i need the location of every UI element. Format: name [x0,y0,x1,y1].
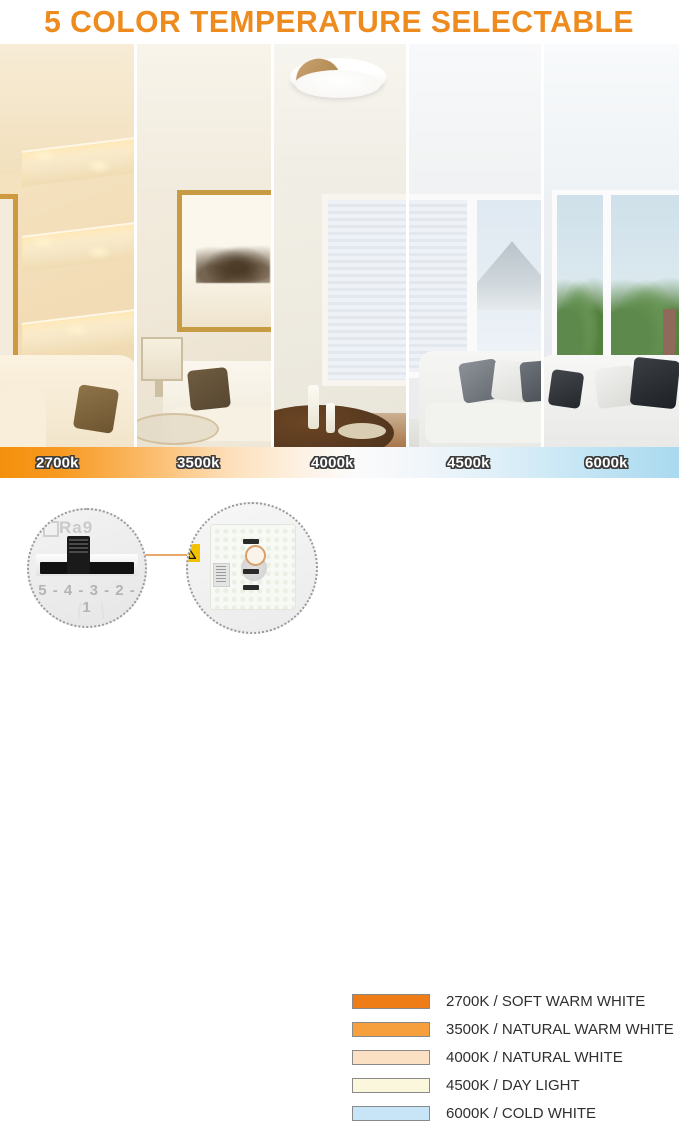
temperature-gradient-bar: 2700k 3500k 4000k 4500k 6000k [0,447,679,478]
module-label [213,563,230,587]
framed-artwork [177,190,274,332]
cushion [187,367,231,411]
dip-switch-photo: Ra9 5 - 4 - 3 - 2 - 1 [27,508,147,628]
temp-label-4000k: 4000k [311,454,354,471]
legend-label-4500k: 4500K / DAY LIGHT [446,1077,580,1094]
legend-label-6000k: 6000K / COLD WHITE [446,1105,596,1122]
legend: 2700K / SOFT WARM WHITE 3500K / NATURAL … [352,987,672,1127]
led-module [210,524,296,610]
photo-panel-3500k [137,44,274,447]
module-contact [243,585,259,590]
light-glow [30,148,56,164]
sofa-seat [425,403,544,443]
led-module-photo [186,502,318,634]
legend-swatch-6000k [352,1106,430,1121]
cushion [630,357,679,410]
sofa-arm [0,391,46,447]
legend-row: 6000K / COLD WHITE [352,1099,672,1127]
room-ceiling [137,44,271,194]
color-temperature-photo-strip [0,44,679,447]
lamp-diffuser [295,70,381,98]
temp-label-4500k: 4500k [447,454,490,471]
product-infographic: 5 COLOR TEMPERATURE SELECTABLE [0,0,679,642]
legend-row: 3500K / NATURAL WARM WHITE [352,1015,672,1043]
page-title: 5 COLOR TEMPERATURE SELECTABLE [45,4,635,40]
header: 5 COLOR TEMPERATURE SELECTABLE [0,0,679,44]
legend-swatch-4000k [352,1050,430,1065]
switch-slider[interactable] [67,536,90,574]
housing-notch [78,603,104,619]
temp-label-2700k: 2700k [36,454,79,471]
temp-label-6000k: 6000k [585,454,628,471]
cushion [73,384,119,434]
legend-row: 4500K / DAY LIGHT [352,1071,672,1099]
window-door [322,194,409,386]
warning-triangle-icon [186,544,200,562]
room-ceiling [409,44,541,204]
switch-location-highlight [245,545,266,566]
legend-label-2700k: 2700K / SOFT WARM WHITE [446,993,645,1010]
light-glow [86,158,112,174]
photo-panel-2700k [0,44,137,447]
legend-swatch-4500k [352,1078,430,1093]
light-glow [86,244,112,260]
legend-swatch-2700k [352,994,430,1009]
light-glow [64,322,90,338]
light-glow [30,234,56,250]
legend-row: 4000K / NATURAL WHITE [352,1043,672,1071]
neighbor-roof [477,241,544,310]
ra9-label: Ra9 [59,518,93,538]
legend-row: 2700K / SOFT WARM WHITE [352,987,672,1015]
window-blinds [328,200,406,380]
bottom-section: Ra9 5 - 4 - 3 - 2 - 1 2700K / [0,478,679,642]
outdoor-trees [557,270,603,356]
ceiling-lamp [290,58,386,108]
legend-swatch-3500k [352,1022,430,1037]
candle [308,385,319,429]
module-contact [243,569,259,574]
legend-label-3500k: 3500K / NATURAL WARM WHITE [446,1021,674,1038]
chimney [663,309,675,360]
temp-label-3500k: 3500k [177,454,220,471]
serving-tray [338,423,386,439]
checkbox-icon [43,521,59,537]
photo-panel-6000k [544,44,679,447]
window-blinds [409,200,467,372]
wall-frame [0,194,18,374]
module-contact [243,539,259,544]
room-ceiling [544,44,679,194]
cushion [519,359,544,402]
photo-panel-4000k [274,44,409,447]
legend-label-4000k: 4000K / NATURAL WHITE [446,1049,623,1066]
table-lamp [141,337,183,381]
cushion [548,369,585,409]
photo-panel-4500k [409,44,544,447]
candle [326,403,335,433]
